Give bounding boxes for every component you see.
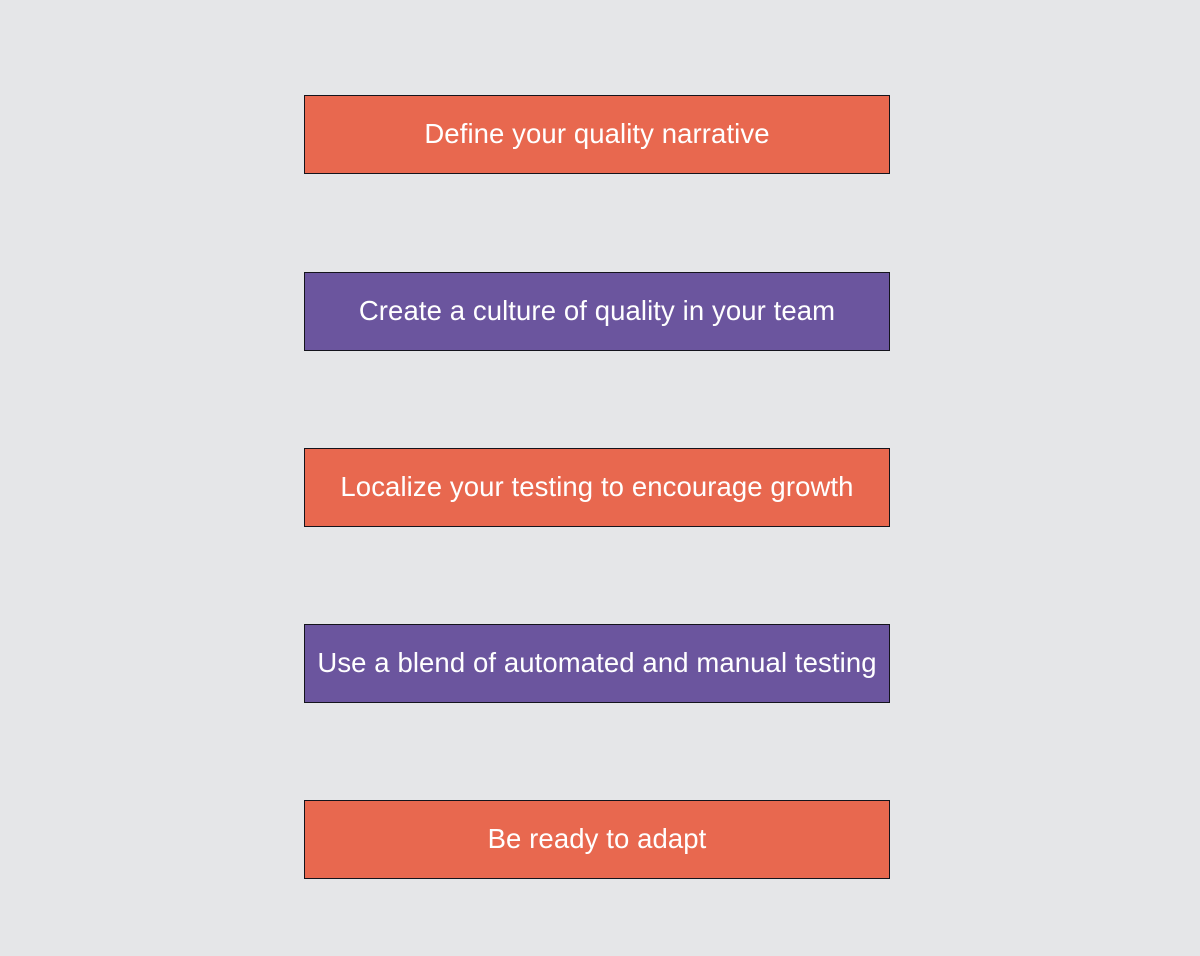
step-box-4-label: Use a blend of automated and manual test… [317,648,876,678]
step-box-3-label: Localize your testing to encourage growt… [340,472,853,502]
step-box-1-label: Define your quality narrative [424,119,769,149]
step-box-3[interactable]: Localize your testing to encourage growt… [304,448,890,527]
step-box-4[interactable]: Use a blend of automated and manual test… [304,624,890,703]
step-box-2-label: Create a culture of quality in your team [359,296,835,326]
diagram-canvas: Define your quality narrative Create a c… [0,0,1200,956]
step-box-5[interactable]: Be ready to adapt [304,800,890,879]
step-box-1[interactable]: Define your quality narrative [304,95,890,174]
step-box-5-label: Be ready to adapt [488,824,707,854]
step-box-2[interactable]: Create a culture of quality in your team [304,272,890,351]
